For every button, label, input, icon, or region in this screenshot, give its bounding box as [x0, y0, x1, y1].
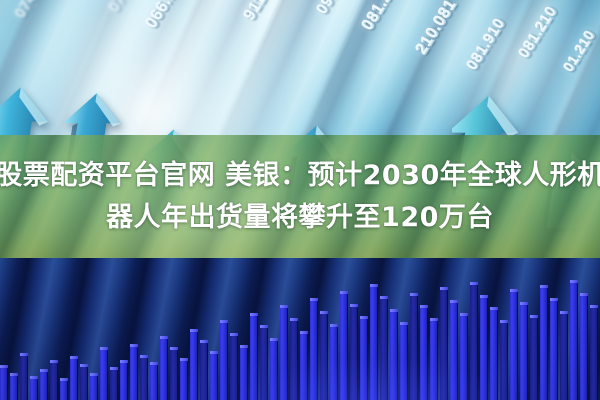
bar	[370, 284, 378, 400]
bar	[400, 322, 408, 400]
news-banner-image: 074.140071.110066.150911.810091.310081.2…	[0, 0, 600, 400]
bar	[350, 304, 358, 400]
bar	[590, 305, 598, 400]
bar	[570, 280, 578, 400]
bar	[380, 296, 388, 400]
bar	[90, 373, 98, 400]
bar	[520, 302, 528, 400]
bar	[300, 331, 308, 400]
bar	[360, 316, 368, 400]
bar	[120, 360, 128, 400]
bar	[410, 293, 418, 400]
bar	[560, 311, 568, 400]
bar	[290, 318, 298, 400]
bar	[10, 373, 18, 400]
bar	[270, 338, 278, 400]
bar	[70, 356, 78, 400]
bar	[130, 344, 138, 400]
bar	[320, 311, 328, 400]
bar	[280, 305, 288, 400]
bar	[100, 347, 108, 400]
bar	[220, 320, 228, 400]
bar	[80, 364, 88, 400]
green-overlay-band	[0, 135, 600, 258]
bar	[430, 318, 438, 400]
bar	[550, 298, 558, 400]
bar	[540, 285, 548, 400]
bar	[240, 345, 248, 400]
bar	[140, 355, 148, 400]
bar	[200, 340, 208, 400]
bar	[210, 351, 218, 400]
bar	[390, 309, 398, 400]
bar	[480, 295, 488, 400]
bar	[450, 300, 458, 400]
bar	[40, 369, 48, 400]
bar	[110, 367, 118, 400]
bar	[160, 336, 168, 400]
bar	[50, 360, 58, 400]
bar	[20, 353, 28, 400]
bar	[460, 313, 468, 400]
bar	[250, 313, 258, 400]
bar	[180, 358, 188, 400]
bar	[420, 305, 428, 400]
bar	[470, 282, 478, 400]
bar	[340, 291, 348, 400]
bar	[60, 378, 68, 400]
green-band-highlight	[40, 135, 400, 258]
bar	[170, 347, 178, 400]
bar	[510, 289, 518, 400]
bar	[310, 298, 318, 400]
bar	[190, 329, 198, 400]
bar	[500, 320, 508, 400]
lower-scene-bar-chart	[0, 258, 600, 400]
bar	[260, 325, 268, 400]
bar	[580, 293, 588, 400]
bar	[150, 362, 158, 400]
bar	[30, 376, 38, 400]
bar	[440, 287, 448, 400]
bar	[0, 365, 8, 400]
bar-chart-bars	[0, 258, 600, 400]
bar	[230, 333, 238, 400]
bar	[330, 324, 338, 400]
bar	[530, 315, 538, 400]
bar	[490, 307, 498, 400]
